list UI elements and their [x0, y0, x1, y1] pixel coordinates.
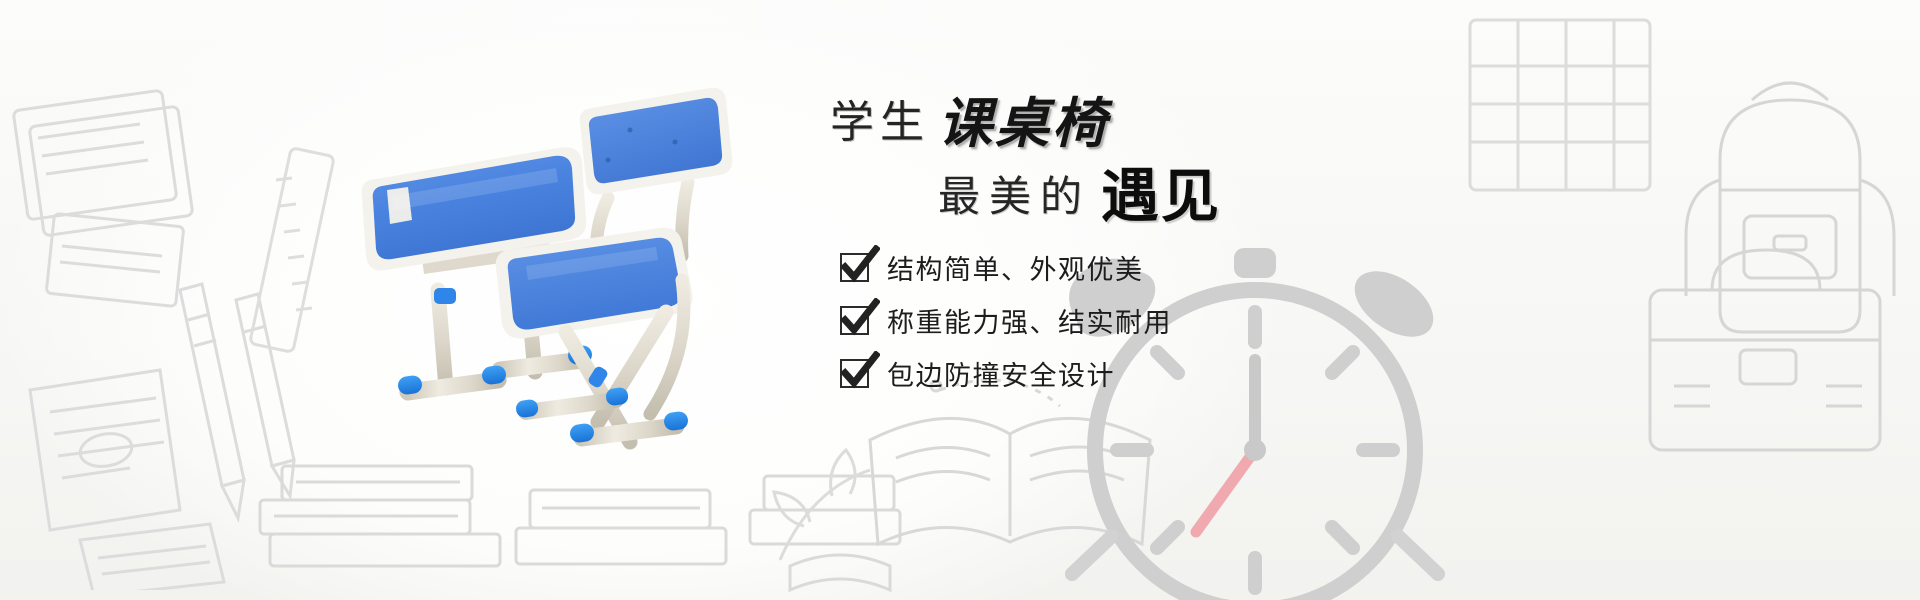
subheadline-prefix: 最美的 — [938, 172, 1091, 221]
feature-item: 包边防撞安全设计 — [840, 354, 1172, 393]
headline-emphasis: 课桌椅 — [938, 91, 1109, 155]
check-mark-icon — [840, 253, 869, 282]
promo-banner: 学生课桌椅 最美的遇见 结构简单、外观优美 — [0, 0, 1920, 600]
feature-label: 结构简单、外观优美 — [887, 248, 1144, 287]
check-mark-icon — [840, 359, 869, 388]
feature-label: 称重能力强、结实耐用 — [887, 301, 1172, 340]
feature-list: 结构简单、外观优美 称重能力强、结实耐用 包边防撞安全设计 — [840, 248, 1172, 393]
subheadline-emphasis: 遇见 — [1101, 164, 1221, 229]
satchel-doodle — [1600, 200, 1920, 500]
check-mark-icon — [840, 306, 869, 335]
headline-prefix: 学生 — [830, 97, 930, 148]
banner-copy: 学生课桌椅 最美的遇见 结构简单、外观优美 — [818, 96, 1378, 496]
headline: 学生课桌椅 最美的遇见 — [818, 96, 1378, 246]
feature-label: 包边防撞安全设计 — [887, 354, 1115, 393]
student-desk-and-chair-photo — [330, 70, 850, 520]
headline-line-2: 最美的遇见 — [938, 168, 1221, 226]
headline-line-1: 学生课桌椅 — [830, 96, 1109, 150]
feature-item: 称重能力强、结实耐用 — [840, 301, 1172, 340]
feature-item: 结构简单、外观优美 — [840, 248, 1172, 287]
